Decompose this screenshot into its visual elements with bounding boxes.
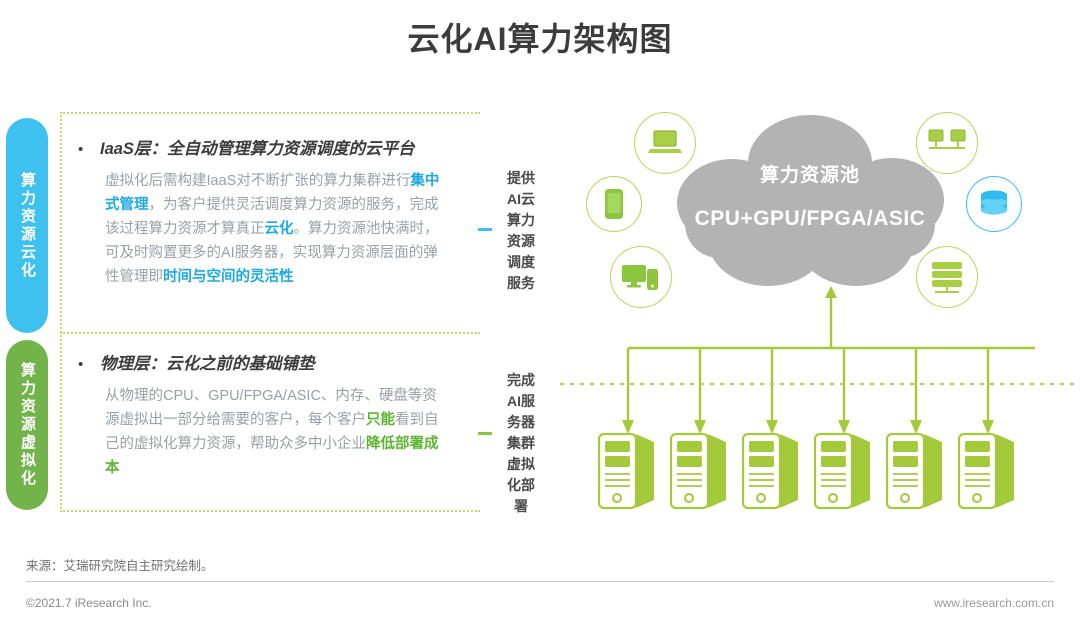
network-glyph bbox=[926, 127, 968, 159]
vertical-label-deployment: 完成AI服务器集群虚拟化部署 bbox=[494, 370, 548, 517]
laptop-icon bbox=[634, 112, 696, 174]
laptop-glyph bbox=[648, 129, 682, 157]
pill-virtualization-label: 算力资源虚拟化 bbox=[17, 362, 37, 488]
vertical-label-row: 服务 bbox=[494, 273, 548, 294]
vertical-label-row: 务器 bbox=[494, 412, 548, 433]
iaas-heading: •IaaS层：全自动管理算力资源调度的云平台 bbox=[78, 135, 478, 159]
mobile-phone-icon bbox=[586, 176, 642, 232]
server-tower-group bbox=[560, 430, 1080, 520]
vertical-label-scheduling: 提供AI云算力资源调度服务 bbox=[494, 168, 548, 294]
database-icon bbox=[966, 176, 1022, 232]
connector-tick-bottom bbox=[478, 432, 492, 435]
text-run-plain: 虚拟化后需构建IaaS对不断扩张的算力集群进行 bbox=[105, 173, 410, 189]
source-note: 来源：艾瑞研究院自主研究绘制。 bbox=[26, 555, 214, 574]
phone-glyph bbox=[604, 188, 624, 220]
vertical-label-row: 完成 bbox=[494, 370, 548, 391]
server-tower bbox=[599, 434, 1014, 508]
vertical-label-row: 化部 bbox=[494, 475, 548, 496]
physical-heading-text: 物理层：云化之前的基础铺垫 bbox=[100, 355, 315, 373]
vertical-label-row: 算力 bbox=[494, 210, 548, 231]
vertical-label-row: AI云 bbox=[494, 189, 548, 210]
pill-cloudification-label: 算力资源云化 bbox=[17, 172, 37, 280]
vertical-label-row: 虚拟 bbox=[494, 454, 548, 475]
website-link[interactable]: www.iresearch.com.cn bbox=[934, 596, 1054, 610]
text-run-blue: 时间与空间的灵活性 bbox=[163, 269, 294, 285]
dashed-section-divider bbox=[60, 332, 480, 334]
iaas-body: 虚拟化后需构建IaaS对不断扩张的算力集群进行集中式管理，为客户提供灵活调度算力… bbox=[105, 169, 450, 289]
page-title: 云化AI算力架构图 bbox=[0, 14, 1080, 60]
vertical-label-row: 集群 bbox=[494, 433, 548, 454]
block-iaas: •IaaS层：全自动管理算力资源调度的云平台 虚拟化后需构建IaaS对不断扩张的… bbox=[78, 135, 478, 289]
network-nodes-icon bbox=[916, 112, 978, 174]
iaas-heading-text: IaaS层：全自动管理算力资源调度的云平台 bbox=[100, 140, 414, 158]
vertical-label-row: 署 bbox=[494, 496, 548, 517]
footer-divider bbox=[26, 581, 1054, 582]
vertical-label-row: 调度 bbox=[494, 252, 548, 273]
database-glyph bbox=[978, 189, 1010, 219]
physical-heading: •物理层：云化之前的基础铺垫 bbox=[78, 350, 478, 374]
pill-cloudification: 算力资源云化 bbox=[6, 118, 48, 333]
connector-tick-top bbox=[478, 228, 492, 231]
diagram-canvas: 云化AI算力架构图 算力资源云化 算力资源虚拟化 •IaaS层：全自动管理算力资… bbox=[0, 0, 1080, 626]
bullet-icon: • bbox=[78, 356, 100, 373]
text-run-green: 只能 bbox=[366, 412, 395, 428]
compute-resource-pool-cloud bbox=[660, 108, 960, 308]
copyright-text: ©2021.7 iResearch Inc. bbox=[26, 596, 152, 610]
block-physical: •物理层：云化之前的基础铺垫 从物理的CPU、GPU/FPGA/ASIC、内存、… bbox=[78, 350, 478, 480]
vertical-label-row: 提供 bbox=[494, 168, 548, 189]
text-run-blue: 云化 bbox=[265, 221, 294, 237]
vertical-label-row: AI服 bbox=[494, 391, 548, 412]
physical-body: 从物理的CPU、GPU/FPGA/ASIC、内存、硬盘等资源虚拟出一部分给需要的… bbox=[105, 384, 450, 480]
vertical-label-row: 资源 bbox=[494, 231, 548, 252]
bullet-icon: • bbox=[78, 141, 100, 158]
pill-virtualization: 算力资源虚拟化 bbox=[6, 340, 48, 510]
